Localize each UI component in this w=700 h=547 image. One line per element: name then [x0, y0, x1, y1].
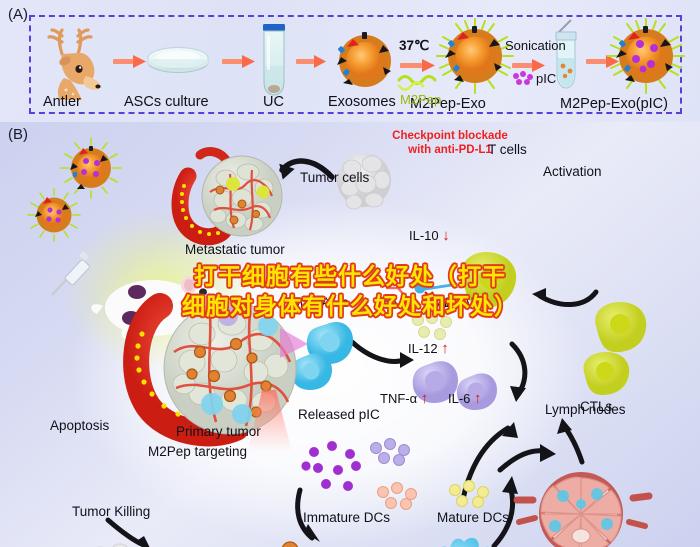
- cytokine-il-10-arrow: ↓: [442, 227, 450, 244]
- ctl-cell-2-icon: [584, 352, 630, 395]
- arrow-il12-flow: [510, 344, 526, 402]
- panel-a-label-ascs-culture: ASCs culture: [124, 94, 209, 110]
- label-m2pep-targeting: M2Pep targeting: [148, 444, 247, 459]
- nanoparticle-1-icon: [61, 138, 121, 198]
- panel-a: (A): [0, 0, 700, 122]
- m2-tam-cell-2-icon: [291, 353, 332, 390]
- label-lymph-nodes: Lymph nodes: [545, 402, 626, 417]
- targeting-beam-icon: [248, 390, 292, 452]
- arrow-to-ctls-right: [557, 418, 582, 462]
- cytokine-il-12-arrow: ↑: [441, 340, 449, 357]
- panel-a-label-antler: Antler: [43, 94, 81, 110]
- label-apoptosis: Apoptosis: [50, 418, 109, 433]
- panel-b-graphics: [0, 122, 700, 547]
- label-tumor-killing: Tumor Killing: [72, 504, 150, 519]
- label-t-cells: T cells: [488, 142, 527, 157]
- panel-b: (B): [0, 122, 700, 547]
- label-released-pic: Released pIC: [298, 407, 380, 422]
- figure-root: (A): [0, 0, 700, 547]
- watermark-overlay: 打干细胞有些什么好处（打干 细胞对身体有什么好处和坏处）: [0, 262, 700, 322]
- mature-dc-icon: [428, 538, 504, 547]
- m2-tam-cell-icon: [307, 322, 353, 364]
- il6-particles-icon: [450, 481, 489, 508]
- arrow-apoptosis: [108, 520, 152, 547]
- arrow-m2-to-m1-tam: [352, 342, 414, 368]
- label-primary-tumor: Primary tumor: [176, 424, 261, 439]
- panel-a-temperature: 37℃: [399, 38, 429, 54]
- panel-a-label-m2pep-exo-pic: M2Pep-Exo(pIC): [560, 96, 668, 112]
- label-metastatic-tumor: Metastatic tumor: [185, 242, 285, 257]
- cytokine-il-12-name: IL-12: [408, 341, 438, 356]
- cytokine-il-10: IL-10 ↓: [409, 227, 450, 244]
- cytokine-il-6-name: IL-6: [448, 391, 470, 406]
- lymph-node-icon: [517, 472, 649, 547]
- label-activation: Activation: [543, 164, 602, 179]
- cytokine-il-10-name: IL-10: [409, 228, 439, 243]
- metastatic-tumor-icon: [180, 152, 282, 237]
- cytokine-il-6-arrow: ↑: [474, 390, 482, 407]
- cytokine-tnf-alpha-arrow: ↑: [421, 390, 429, 407]
- label-mature-dcs: Mature DCs: [437, 510, 509, 525]
- nanoparticle-2-icon: [28, 189, 80, 241]
- panel-a-label-uc: UC: [263, 94, 284, 110]
- released-pic-particles-icon: [301, 441, 361, 491]
- panel-b-tag: (B): [8, 126, 28, 143]
- watermark-line-1: 打干细胞有些什么好处（打干: [0, 262, 700, 292]
- cytokine-tnf-alpha-name: TNF-α: [380, 391, 417, 406]
- tnf-alpha-particles-icon: [378, 483, 417, 510]
- panel-a-sonication-label: Sonication: [505, 38, 566, 53]
- il12-particles-icon: [371, 439, 410, 466]
- panel-a-m2pep-label: M2Pep: [400, 92, 441, 107]
- cytokine-il-12: IL-12 ↑: [408, 340, 449, 357]
- cytokine-il-6: IL-6 ↑: [448, 390, 482, 407]
- checkpoint-line-2: with anti-PD-L1: [408, 144, 492, 156]
- cytokine-tnf-alpha: TNF-α ↑: [380, 390, 428, 407]
- panel-a-tag: (A): [8, 6, 28, 23]
- watermark-line-2: 细胞对身体有什么好处和坏处）: [0, 292, 700, 322]
- arrow-cytokines-to-lymph: [500, 444, 556, 470]
- arrow-to-ctls-left: [462, 422, 518, 504]
- panel-a-label-exosomes: Exosomes: [328, 94, 396, 110]
- checkpoint-line-1: Checkpoint blockade: [392, 130, 508, 142]
- panel-a-pic-label: pIC: [536, 71, 556, 86]
- label-tumor-cells: Tumor cells: [300, 170, 369, 185]
- label-immature-dcs: Immature DCs: [303, 510, 390, 525]
- m2pep-targeted-macrophage-icon: [220, 542, 298, 547]
